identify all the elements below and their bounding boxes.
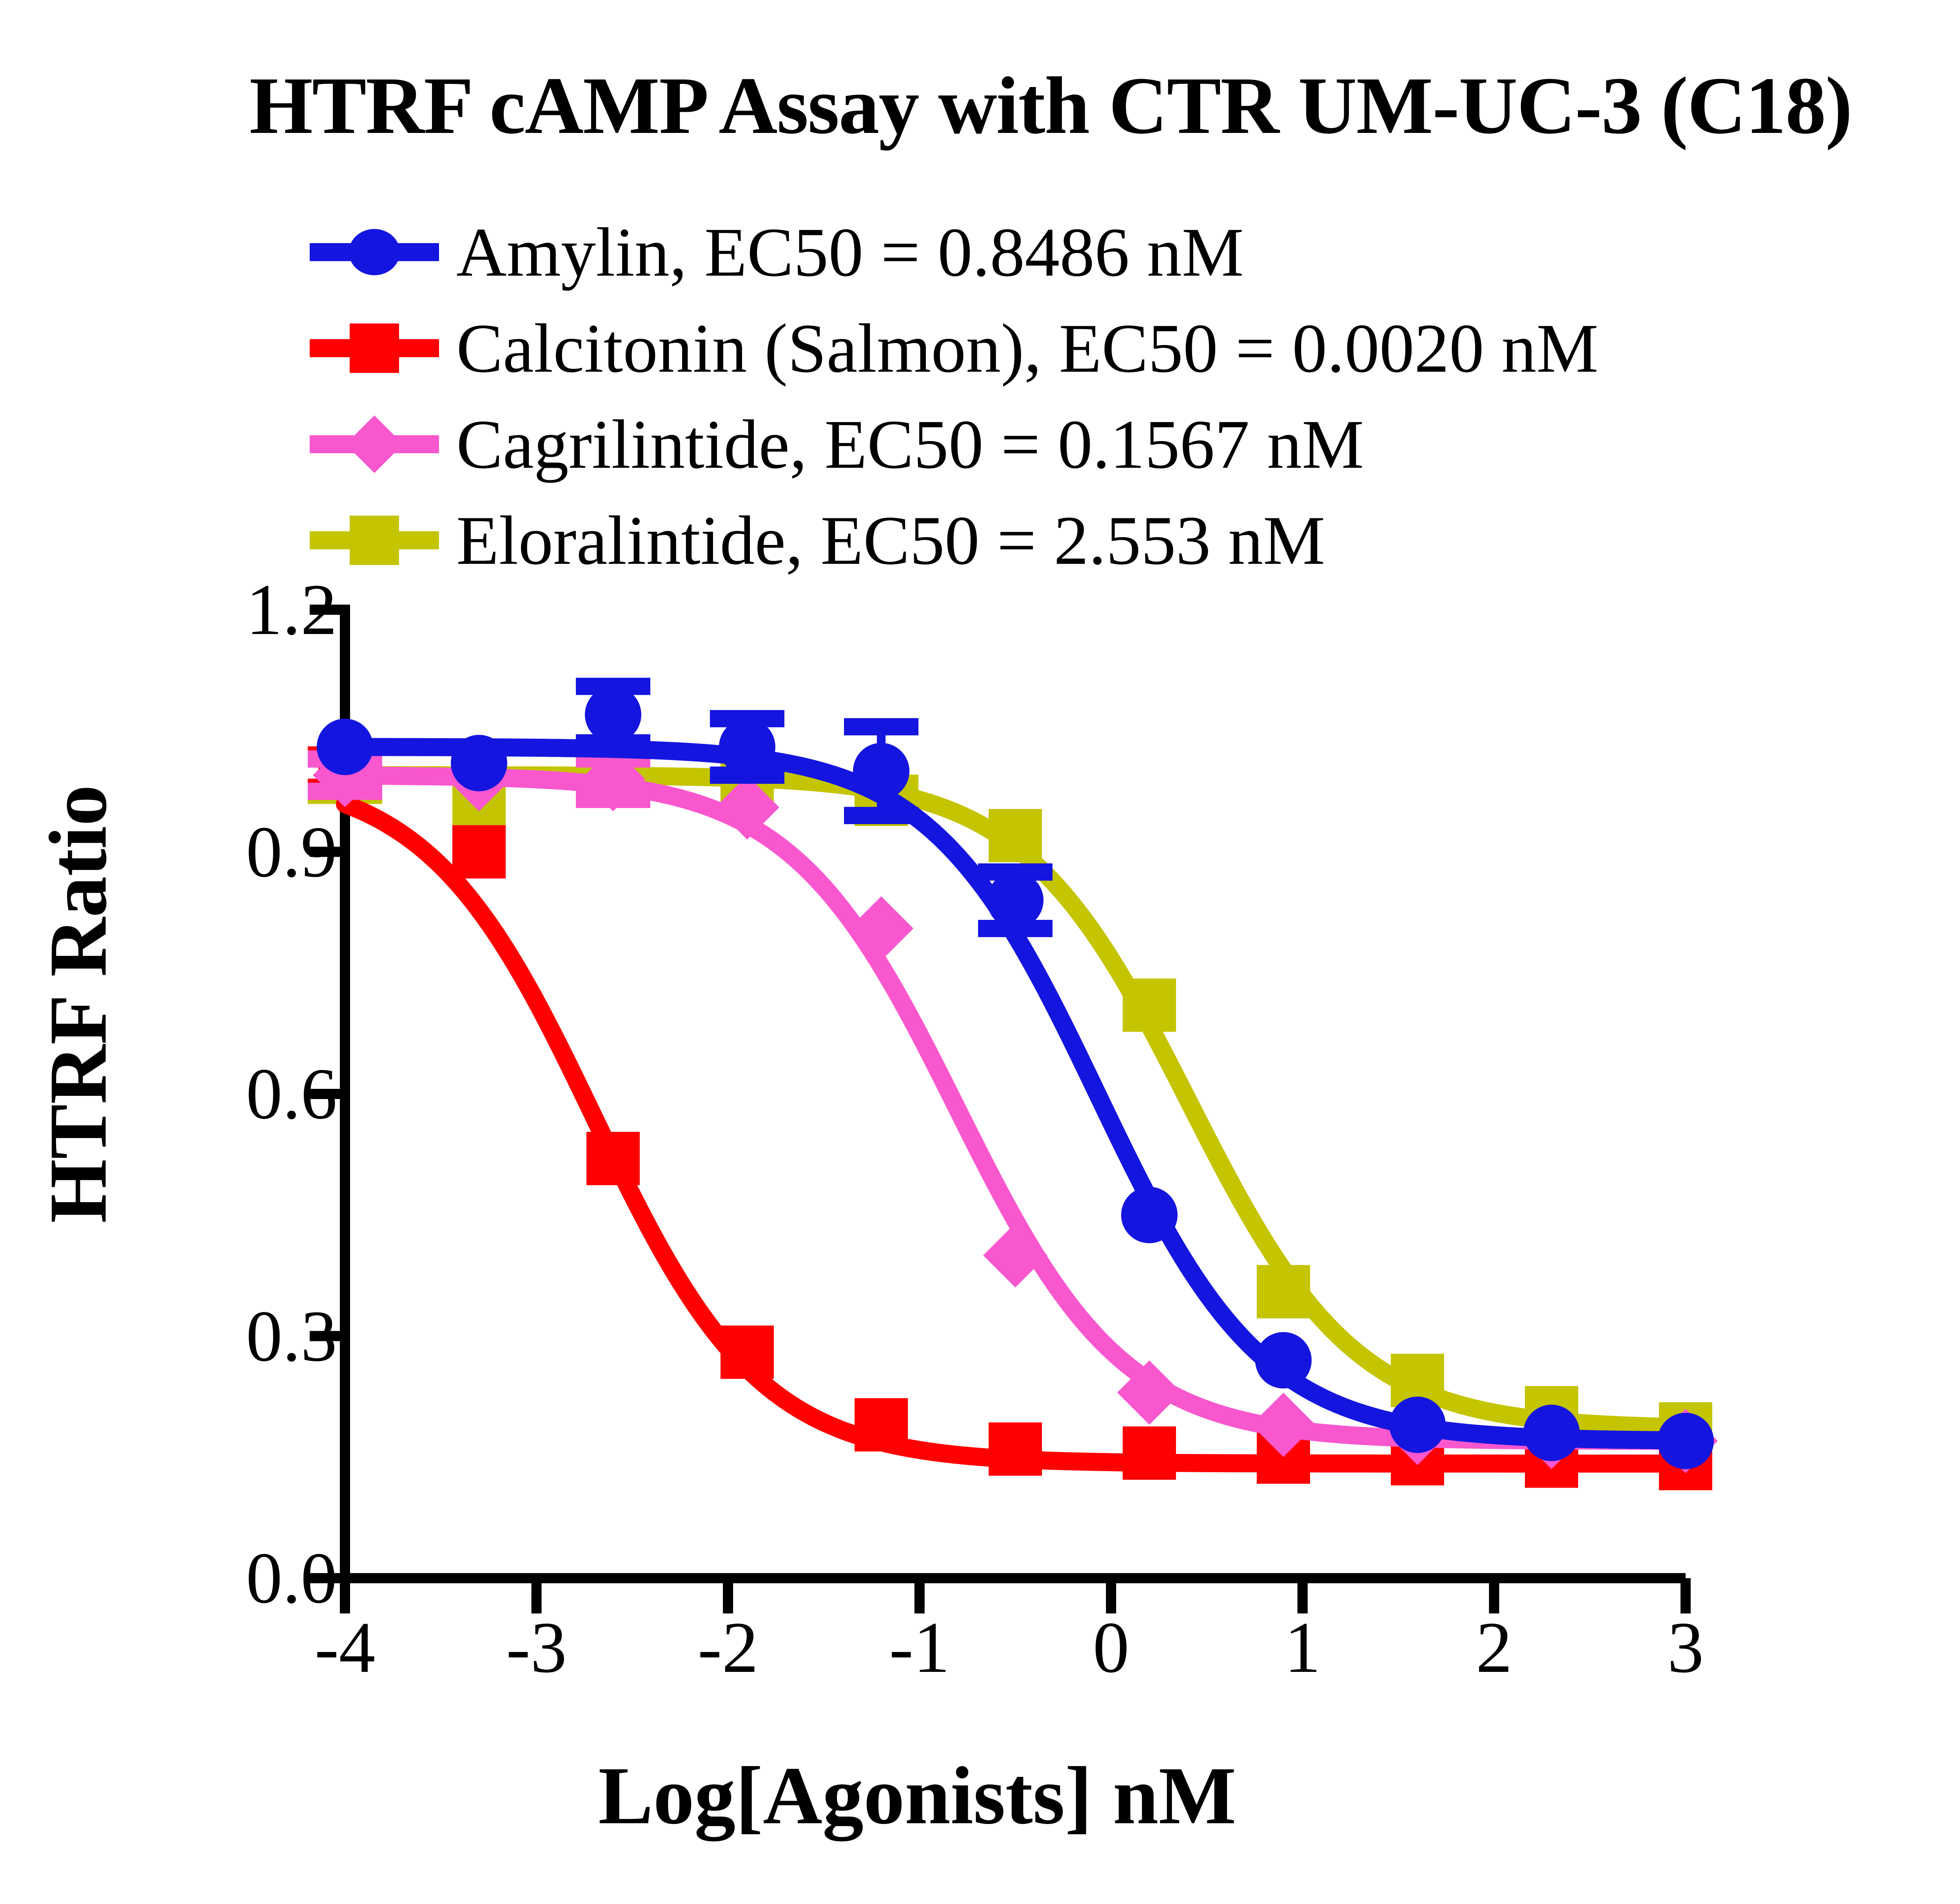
legend-item-calcitonin[interactable]: Calcitonin (Salmon), EC50 = 0.0020 nM: [310, 300, 1960, 396]
x-tick-label: 3: [1668, 1606, 1704, 1690]
y-tick-label: 1.2: [246, 568, 338, 652]
series-eloralintide: [308, 749, 1712, 1455]
legend-label-calcitonin: Calcitonin (Salmon), EC50 = 0.0020 nM: [456, 313, 1599, 383]
y-tick-label: 0.3: [246, 1294, 338, 1378]
legend-label-eloralintide: Eloralintide, EC50 = 2.553 nM: [456, 505, 1325, 575]
legend-label-cagrilintide: Cagrilintide, EC50 = 0.1567 nM: [456, 409, 1364, 479]
x-tick-label: -1: [889, 1606, 950, 1690]
legend-key-calcitonin: [310, 325, 439, 372]
x-tick-label: 0: [1093, 1606, 1129, 1690]
x-tick-label: -2: [698, 1606, 759, 1690]
x-tick-label: -3: [506, 1606, 567, 1690]
chart-title: HTRF cAMP Assay with CTR UM-UC-3 (C18): [0, 59, 1960, 153]
x-tick-label: 2: [1476, 1606, 1512, 1690]
legend-label-amylin: Amylin, EC50 = 0.8486 nM: [456, 217, 1244, 287]
legend-key-cagrilintide: [310, 421, 439, 468]
x-axis-tick-labels: -4-3-2-10123: [0, 1606, 1960, 1715]
x-axis-title: Log[Agonists] nM: [0, 1749, 1835, 1843]
y-tick-label: 0.9: [246, 810, 338, 894]
legend-item-eloralintide[interactable]: Eloralintide, EC50 = 2.553 nM: [310, 492, 1960, 588]
legend-item-cagrilintide[interactable]: Cagrilintide, EC50 = 0.1567 nM: [310, 396, 1960, 492]
legend-key-amylin: [310, 229, 439, 276]
x-tick-label: 1: [1284, 1606, 1321, 1690]
series-amylin: [317, 687, 1714, 1470]
chart-figure: HTRF cAMP Assay with CTR UM-UC-3 (C18) A…: [0, 0, 1960, 1904]
y-tick-label: 0.6: [246, 1052, 338, 1136]
square-marker-icon: [350, 516, 399, 565]
square-marker-icon: [350, 323, 399, 373]
chart-legend: Amylin, EC50 = 0.8486 nM Calcitonin (Sal…: [310, 204, 1960, 588]
y-axis-tick-labels: 1.20.90.60.30.0: [118, 588, 337, 1647]
legend-item-amylin[interactable]: Amylin, EC50 = 0.8486 nM: [310, 204, 1960, 300]
y-axis-title: HTRF Ratio: [31, 651, 126, 1357]
x-tick-label: -4: [315, 1606, 376, 1690]
legend-key-eloralintide: [310, 517, 439, 564]
circle-marker-icon: [349, 229, 400, 275]
diamond-marker-icon: [345, 415, 403, 473]
